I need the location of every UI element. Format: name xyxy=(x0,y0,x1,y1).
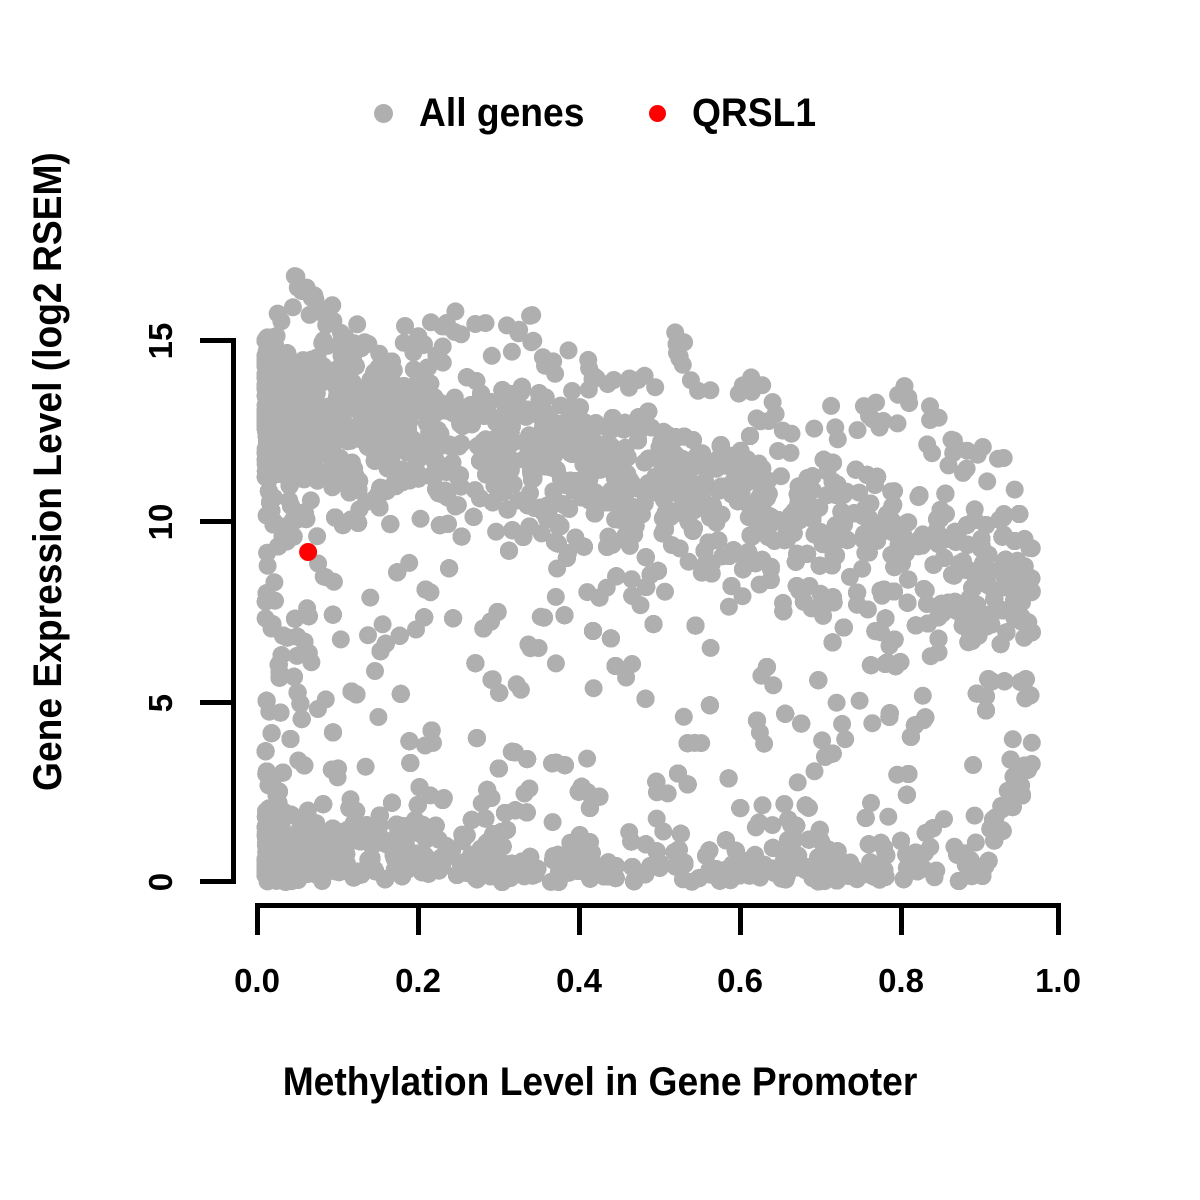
scatter-plot-figure: All genes QRSL1 15 10 5 0 0.0 0.2 0.4 0.… xyxy=(0,0,1200,1200)
highlighted-point-qrsl1 xyxy=(299,543,317,561)
plot-area xyxy=(0,0,1200,1200)
y-tick-label-0: 0 xyxy=(142,862,180,902)
x-tick-0-8 xyxy=(899,903,904,935)
y-tick-10 xyxy=(200,519,232,524)
x-tick-0-2 xyxy=(416,903,421,935)
x-tick-1-0 xyxy=(1056,903,1061,935)
x-tick-label-1-0: 1.0 xyxy=(1008,962,1108,1000)
x-tick-label-0-0: 0.0 xyxy=(207,962,307,1000)
x-tick-label-0-8: 0.8 xyxy=(851,962,951,1000)
y-tick-label-10: 10 xyxy=(142,492,180,552)
y-tick-label-5: 5 xyxy=(142,683,180,723)
y-tick-5 xyxy=(200,700,232,705)
x-tick-0-0 xyxy=(255,903,260,935)
scatter-points-layer xyxy=(0,0,1200,1200)
y-axis-title: Gene Expression Level (log2 RSEM) xyxy=(26,153,71,792)
x-tick-0-6 xyxy=(738,903,743,935)
x-tick-label-0-4: 0.4 xyxy=(529,962,629,1000)
y-axis-line xyxy=(231,338,236,884)
x-tick-label-0-2: 0.2 xyxy=(368,962,468,1000)
x-tick-0-4 xyxy=(577,903,582,935)
y-axis-title-wrap: Gene Expression Level (log2 RSEM) xyxy=(0,72,96,872)
y-tick-0 xyxy=(200,879,232,884)
x-axis-line xyxy=(255,903,1061,908)
y-tick-label-15: 15 xyxy=(142,311,180,371)
y-tick-15 xyxy=(200,338,232,343)
x-tick-label-0-6: 0.6 xyxy=(690,962,790,1000)
x-axis-title: Methylation Level in Gene Promoter xyxy=(42,1060,1158,1105)
